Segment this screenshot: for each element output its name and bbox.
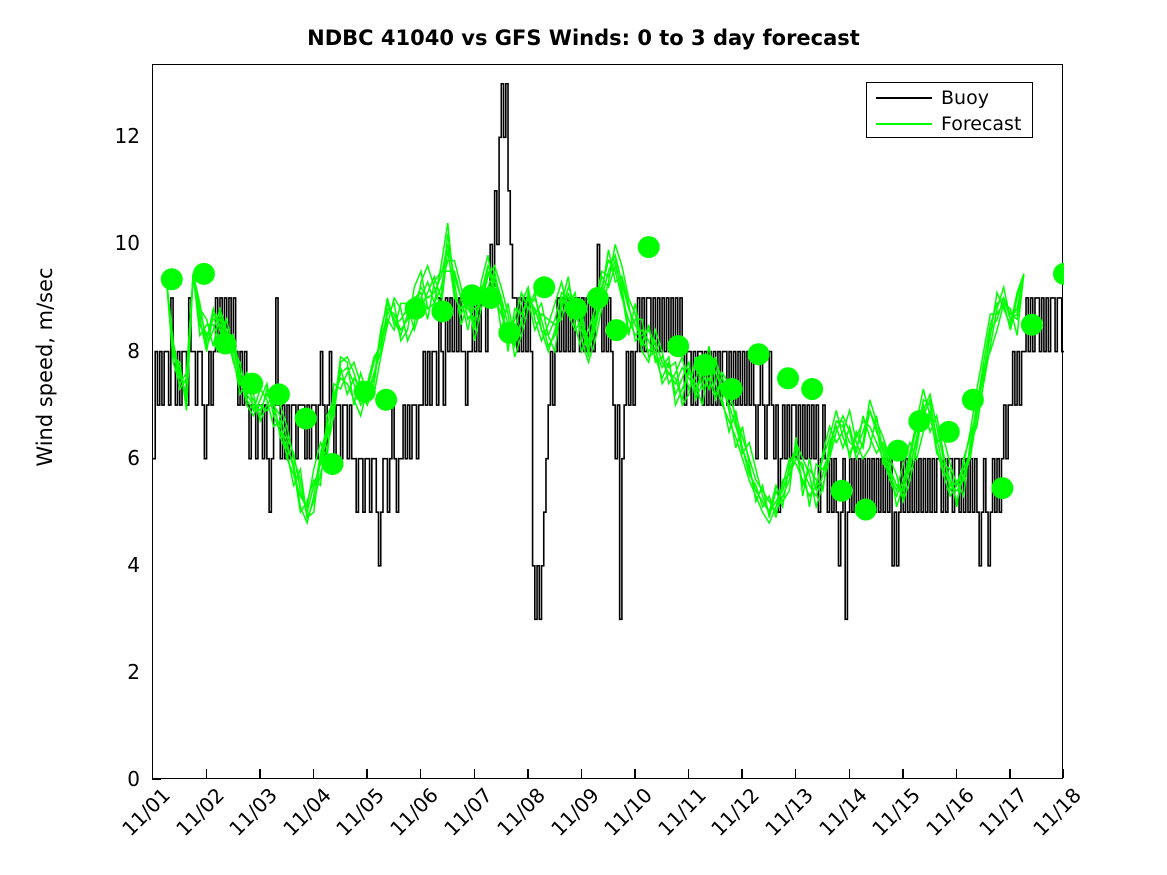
forecast-daily-marker [322, 453, 344, 475]
x-tick-mark [1009, 769, 1010, 778]
forecast-daily-marker [214, 333, 236, 355]
legend-label-buoy: Buoy [941, 89, 989, 108]
forecast-daily-marker [587, 287, 609, 309]
x-tick-mark [313, 769, 314, 778]
legend-entry-buoy: Buoy [867, 84, 1032, 112]
y-axis-label-wrapper: Wind speed, m/sec [0, 0, 1, 1]
y-tick-label: 6 [100, 446, 140, 470]
forecast-daily-marker [606, 319, 628, 341]
forecast-daily-marker [638, 236, 660, 258]
x-tick-mark [795, 769, 796, 778]
y-tick-label: 0 [100, 767, 140, 791]
forecast-daily-marker [1053, 263, 1064, 285]
forecast-daily-marker [694, 354, 716, 376]
x-tick-mark [206, 769, 207, 778]
y-tick-label: 12 [100, 124, 140, 148]
x-tick-mark [420, 769, 421, 778]
y-tick-label: 2 [100, 660, 140, 684]
forecast-daily-marker [533, 276, 555, 298]
x-tick-mark [902, 769, 903, 778]
forecast-daily-marker [777, 367, 799, 389]
x-tick-mark [849, 769, 850, 778]
y-tick-label: 4 [100, 553, 140, 577]
forecast-daily-marker [268, 383, 290, 405]
x-tick-mark [741, 769, 742, 778]
y-axis-tick-labels: 024681012 [96, 64, 140, 779]
forecast-daily-marker [938, 421, 960, 443]
x-tick-mark [1063, 769, 1064, 778]
legend-label-forecast: Forecast [941, 115, 1021, 134]
forecast-daily-marker [405, 298, 427, 320]
forecast-daily-marker [855, 499, 877, 521]
forecast-daily-marker [831, 480, 853, 502]
legend-swatch-forecast [876, 123, 932, 125]
wind-speed-chart-figure: NDBC 41040 vs GFS Winds: 0 to 3 day fore… [0, 0, 1167, 875]
forecast-daily-marker [748, 343, 770, 365]
y-axis-label: Wind speed, m/sec [33, 67, 57, 667]
forecast-daily-marker [721, 378, 743, 400]
plot-canvas [153, 65, 1064, 780]
x-tick-mark [634, 769, 635, 778]
legend: Buoy Forecast [866, 82, 1033, 138]
x-tick-mark [259, 769, 260, 778]
x-tick-mark [474, 769, 475, 778]
legend-entry-forecast: Forecast [867, 110, 1032, 138]
forecast-daily-marker [1021, 314, 1043, 336]
forecast-daily-marker [354, 381, 376, 403]
forecast-daily-marker [161, 268, 183, 290]
forecast-daily-marker [241, 373, 263, 395]
forecast-daily-marker [908, 410, 930, 432]
y-tick-label: 10 [100, 231, 140, 255]
forecast-daily-marker [375, 389, 397, 411]
forecast-daily-marker [461, 284, 483, 306]
forecast-daily-marker [193, 263, 215, 285]
page-title: NDBC 41040 vs GFS Winds: 0 to 3 day fore… [0, 26, 1167, 50]
forecast-daily-marker [565, 298, 587, 320]
forecast-daily-marker [431, 300, 453, 322]
forecast-daily-marker [887, 440, 909, 462]
forecast-daily-marker [480, 287, 502, 309]
plot-area [152, 64, 1063, 779]
forecast-daily-marker [801, 378, 823, 400]
x-tick-mark [527, 769, 528, 778]
x-tick-mark [956, 769, 957, 778]
buoy-step-line [153, 84, 1064, 620]
forecast-daily-marker [498, 322, 520, 344]
forecast-daily-marker [295, 407, 317, 429]
forecast-daily-marker [667, 335, 689, 357]
x-axis-tick-marks [152, 769, 1063, 781]
x-axis-tick-labels: 11/0111/0211/0311/0411/0511/0611/0711/08… [152, 783, 1063, 875]
x-tick-mark [581, 769, 582, 778]
series-group [153, 84, 1064, 620]
forecast-daily-marker [962, 389, 984, 411]
x-tick-mark [688, 769, 689, 778]
legend-swatch-buoy [876, 97, 932, 99]
forecast-run-line-4 [166, 234, 1023, 518]
y-tick-label: 8 [100, 339, 140, 363]
x-tick-mark [366, 769, 367, 778]
x-tick-mark [152, 769, 153, 778]
forecast-daily-marker [991, 477, 1013, 499]
